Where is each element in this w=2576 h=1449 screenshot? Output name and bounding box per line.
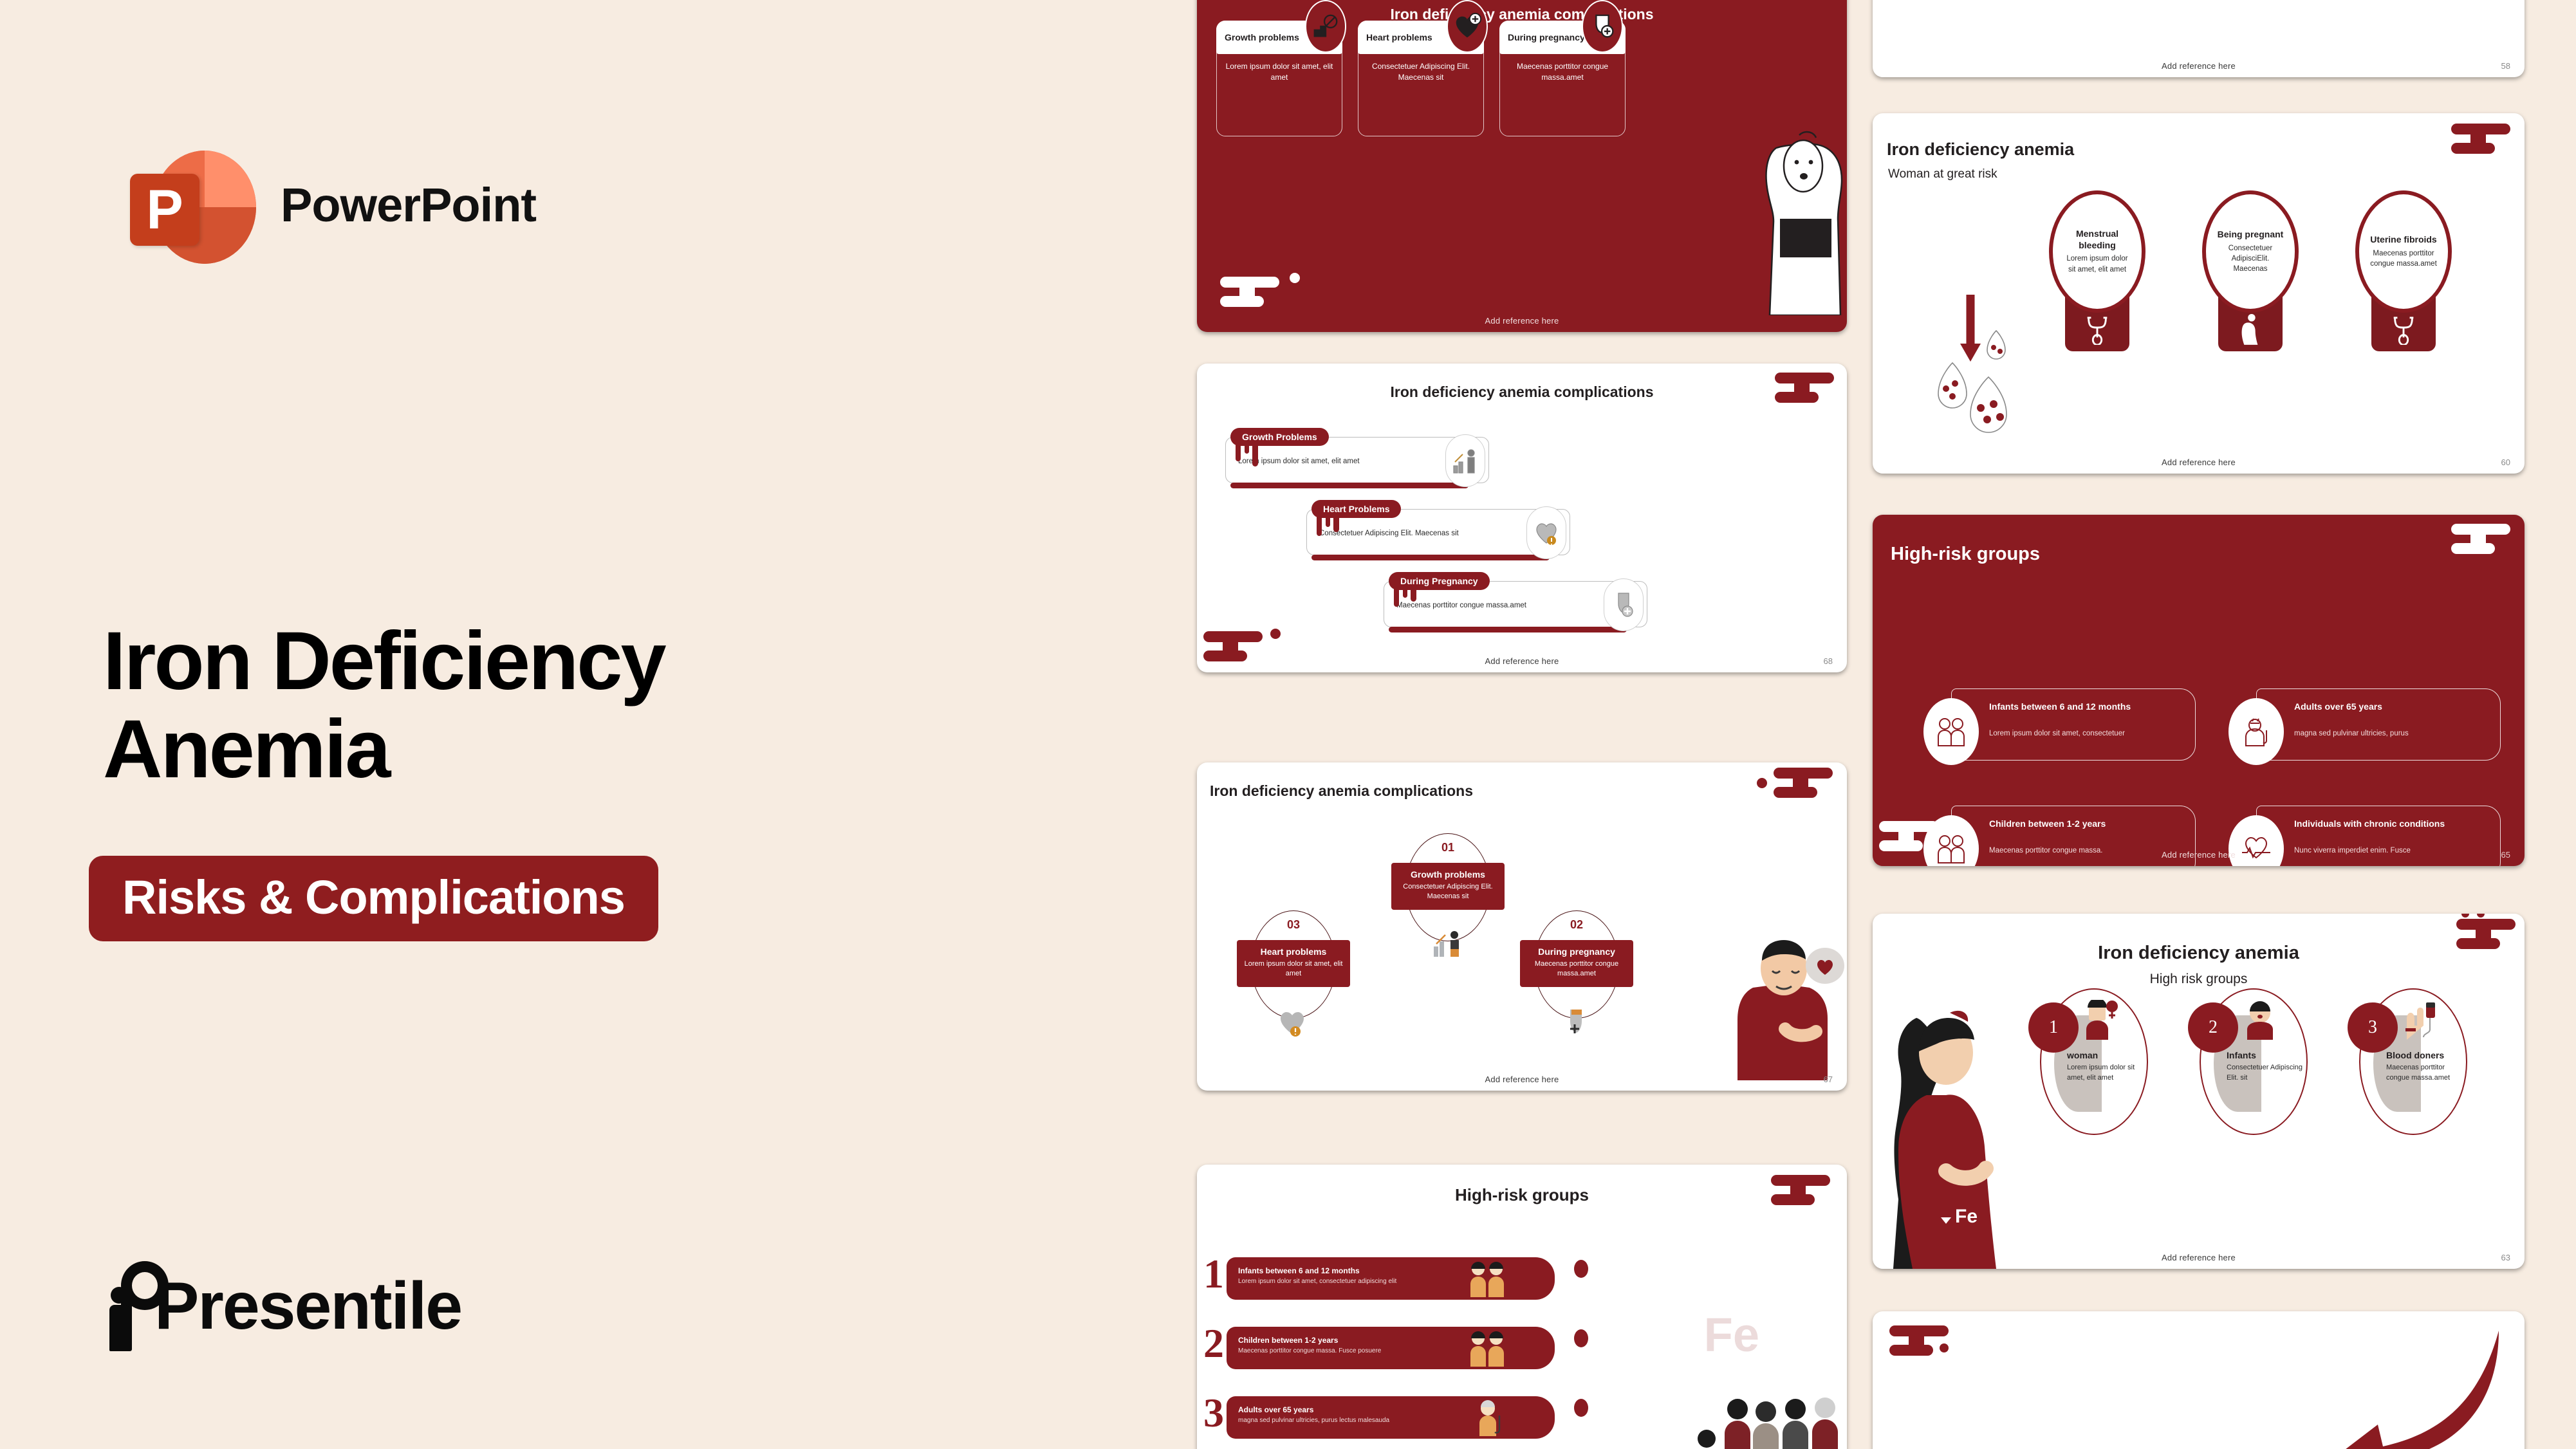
slide-title: High-risk groups (1197, 1186, 1847, 1204)
heart-alert-icon (1275, 1007, 1309, 1038)
node-heading: Menstrual bleeding (2063, 228, 2131, 251)
decorative-bar-icon (2451, 524, 2510, 553)
infant-icon (2242, 1000, 2278, 1040)
pregnancy-cross-icon (1604, 578, 1644, 631)
card-heading: Infants between 6 and 12 months (1989, 701, 2187, 712)
risk-card: Adults over 65 years magna sed pulvinar … (2256, 688, 2501, 761)
node-number: 1 (2028, 1002, 2079, 1053)
flow-row-label: During Pregnancy (1389, 572, 1490, 590)
oval-node: Uterine fibroids Maecenas porttitor cong… (2355, 190, 2452, 313)
presentile-mark-icon (109, 1261, 165, 1351)
list-item-heading: Infants between 6 and 12 months (1238, 1266, 1360, 1275)
two-children-icon (1467, 1329, 1507, 1367)
pregnant-belly-icon (1582, 0, 1623, 53)
list-item: 3 Adults over 65 years magna sed pulvina… (1227, 1396, 1555, 1439)
oval-node: Being pregnant Consectetuer AdipisciElit… (2202, 190, 2299, 313)
heart-alert-icon (1526, 506, 1566, 559)
node-body: Lorem ipsum dolor sit amet, elit amet (1242, 959, 1345, 979)
page-title: Iron Deficiency Anemia (103, 618, 1004, 794)
node-body: Lorem ipsum dolor sit amet, elit amet (2067, 1063, 2149, 1084)
slide-reference: Add reference here (1873, 1253, 2525, 1262)
slide-thumbnail[interactable]: Iron deficiency anemia complications Gro… (1197, 364, 1847, 672)
slide-subtitle: High risk groups (1873, 972, 2525, 987)
decorative-bar-icon (2456, 919, 2516, 948)
brand-row: P PowerPoint (126, 140, 536, 269)
app-name: PowerPoint (281, 178, 536, 232)
slide-page-number: 67 (1824, 1075, 1833, 1084)
list-item-number: 3 (1203, 1392, 1224, 1434)
node-heading: Infants (2227, 1050, 2309, 1060)
node-body: Lorem ipsum dolor sit amet, elit amet (2063, 254, 2131, 274)
numbered-node: 1 woman Lorem ipsum dolor sit amet, elit… (2032, 988, 2148, 1135)
curved-arrow-icon (2286, 1324, 2505, 1449)
node-number: 01 (1441, 841, 1454, 854)
slide-page-number: 68 (1824, 656, 1833, 666)
slide-title: Iron deficiency anemia complications (1197, 384, 1847, 400)
blood-donation-icon (2402, 1000, 2438, 1040)
slide-page-number: 58 (2501, 61, 2510, 71)
pregnant-woman-illustration: Fe (1879, 999, 2021, 1269)
slide-thumbnail[interactable]: Iron deficiency anemia Woman at great ri… (1873, 113, 2525, 474)
numbered-node: 2 Infants Consectetuer Adipiscing Elit. … (2192, 988, 2308, 1135)
man-with-chest-pain-illustration (1717, 932, 1846, 1080)
decorative-bar-icon (2451, 124, 2510, 153)
node-body: Maecenas porttitor congue massa.amet (2386, 1063, 2469, 1084)
two-children-icon (1923, 698, 1979, 765)
card-heading: Individuals with chronic conditions (2294, 818, 2492, 829)
node-number: 2 (2188, 1002, 2238, 1053)
slide-title: Iron deficiency anemia complications (1197, 6, 1847, 22)
group-of-people-illustration (1680, 1383, 1847, 1449)
node-body: Consectetuer AdipisciElit. Maecenas (2216, 243, 2284, 274)
list-item-body: Maecenas porttitor congue massa. Fusce p… (1238, 1347, 1381, 1354)
flow-row: Heart Problems Consectetuer Adipiscing E… (1300, 500, 1570, 555)
slide-reference: Add reference here (1197, 1075, 1847, 1084)
card-body: Maecenas porttitor congue massa.amet (1505, 61, 1620, 84)
presentile-logo: Presentile (109, 1261, 461, 1351)
slide-reference: Add reference here (1873, 61, 2525, 71)
node-number: 02 (1570, 918, 1583, 932)
elderly-person-icon (1471, 1399, 1507, 1436)
decorative-bar-icon (1774, 768, 1833, 797)
list-item-number: 1 (1203, 1253, 1224, 1295)
elderly-person-icon (2229, 698, 2284, 765)
card-body: magna sed pulvinar ultricies, purus (2294, 729, 2492, 739)
node-body: Consectetuer Adipiscing Elit. sit (2227, 1063, 2309, 1084)
node-heading: Being pregnant (2218, 229, 2284, 241)
slide-reference: Add reference here (1197, 316, 1847, 326)
slide-thumbnail[interactable]: High-risk groups 1 Infants between 6 and… (1197, 1165, 1847, 1449)
heart-pulse-icon (1447, 0, 1488, 53)
card-body: Consectetuer Adipiscing Elit. Maecenas s… (1364, 61, 1478, 84)
growth-chart-icon (1445, 434, 1485, 487)
card-heading: Adults over 65 years (2294, 701, 2492, 712)
oval-node: Menstrual bleeding Lorem ipsum dolor sit… (2049, 190, 2145, 313)
slide-page-number: 60 (2501, 457, 2510, 467)
flow-row-body: Consectetuer Adipiscing Elit. Maecenas s… (1319, 530, 1459, 537)
flow-row-body: Maecenas porttitor congue massa.amet (1396, 602, 1526, 609)
blood-drops-icon (1924, 281, 2034, 441)
node-body: Maecenas porttitor congue massa.amet (2369, 248, 2438, 269)
node-heading: Growth problems (1396, 869, 1499, 880)
slide-reference: Add reference here (1197, 656, 1847, 666)
risk-card: Infants between 6 and 12 months Lorem ip… (1951, 688, 2196, 761)
svg-text:Fe: Fe (1955, 1206, 1978, 1227)
list-item-heading: Adults over 65 years (1238, 1405, 1313, 1414)
slide-thumbnail[interactable] (1873, 1311, 2525, 1449)
two-children-icon (1467, 1260, 1507, 1297)
list-item-body: magna sed pulvinar ultricies, purus lect… (1238, 1417, 1389, 1424)
node-heading: Uterine fibroids (2370, 234, 2436, 246)
card-body: Lorem ipsum dolor sit amet, consectetuer (1989, 729, 2187, 739)
slide-thumbnail[interactable]: High-risk groups Infants between 6 and 1… (1873, 515, 2525, 866)
node-heading: During pregnancy (1525, 946, 1628, 957)
deck-title-line-1: Iron Deficiency (103, 618, 1004, 706)
slide-thumbnail[interactable]: Iron deficiency anemia complications 01 … (1197, 762, 1847, 1091)
node-body: Maecenas porttitor congue massa.amet (1525, 959, 1628, 979)
decorative-bar-icon (1775, 373, 1834, 402)
no-growth-icon (1305, 0, 1346, 53)
list-item-heading: Children between 1-2 years (1238, 1336, 1338, 1345)
decorative-bar-icon (1879, 821, 1938, 851)
slide-thumbnail[interactable]: Add reference here 58 (1873, 0, 2525, 77)
slide-title: Iron deficiency anemia (1887, 140, 2074, 158)
node-heading: woman (2067, 1050, 2149, 1060)
decorative-bar-icon (1771, 1175, 1830, 1204)
woman-female-sign-icon (2082, 1000, 2118, 1040)
red-arc-illustration (2319, 0, 2512, 22)
fe-watermark: Fe (1704, 1307, 1759, 1362)
decorative-bar-icon (1889, 1325, 1949, 1355)
slide-title: Iron deficiency anemia (1873, 943, 2525, 963)
worried-woman-illustration (1737, 122, 1847, 315)
pregnancy-cross-icon (1561, 1007, 1593, 1038)
slide-reference: Add reference here (1873, 850, 2525, 860)
node-number: 03 (1287, 918, 1300, 932)
status-badge: Risks & Complications (89, 856, 658, 941)
numbered-node: 3 Blood doners Maecenas porttitor congue… (2351, 988, 2467, 1135)
slide-thumbnail[interactable]: Iron deficiency anemia High risk groups … (1873, 914, 2525, 1269)
cover-panel: P PowerPoint Iron Deficiency Anemia Risk… (0, 0, 1178, 1449)
node-heading: Blood doners (2386, 1050, 2469, 1060)
slide-title: High-risk groups (1891, 544, 2040, 564)
card-body: Lorem ipsum dolor sit amet, elit amet (1222, 61, 1337, 84)
card-heading: Children between 1-2 years (1989, 818, 2187, 829)
list-item: 2 Children between 1-2 years Maecenas po… (1227, 1327, 1555, 1369)
slide-title: Iron deficiency anemia complications (1210, 783, 1473, 798)
node-body: Consectetuer Adipiscing Elit. Maecenas s… (1396, 882, 1499, 902)
flow-row: Growth Problems Lorem ipsum dolor sit am… (1219, 428, 1489, 483)
node-heading: Heart problems (1242, 946, 1345, 957)
slide-subtitle: Woman at great risk (1888, 167, 1997, 181)
slide-thumbnail[interactable]: Iron deficiency anemia complications Gro… (1197, 0, 1847, 332)
flow-row: During Pregnancy Maecenas porttitor cong… (1377, 572, 1647, 627)
flow-row-label: Heart Problems (1311, 500, 1401, 518)
deck-title-line-2: Anemia (103, 706, 1004, 794)
slide-page-number: 65 (2501, 850, 2510, 860)
flow-row-label: Growth Problems (1230, 428, 1329, 446)
list-item-body: Lorem ipsum dolor sit amet, consectetuer… (1238, 1278, 1396, 1285)
slide-reference: Add reference here (1873, 457, 2525, 467)
list-item: 1 Infants between 6 and 12 months Lorem … (1227, 1257, 1555, 1300)
powerpoint-logo-icon: P (126, 140, 255, 269)
growth-chart-icon (1431, 930, 1466, 959)
powerpoint-letter: P (130, 174, 199, 246)
slide-page-number: 63 (2501, 1253, 2510, 1262)
list-item-number: 2 (1203, 1323, 1224, 1364)
presentile-wordmark: Presentile (154, 1273, 461, 1340)
node-number: 3 (2348, 1002, 2398, 1053)
decorative-bar-icon (1220, 277, 1279, 306)
